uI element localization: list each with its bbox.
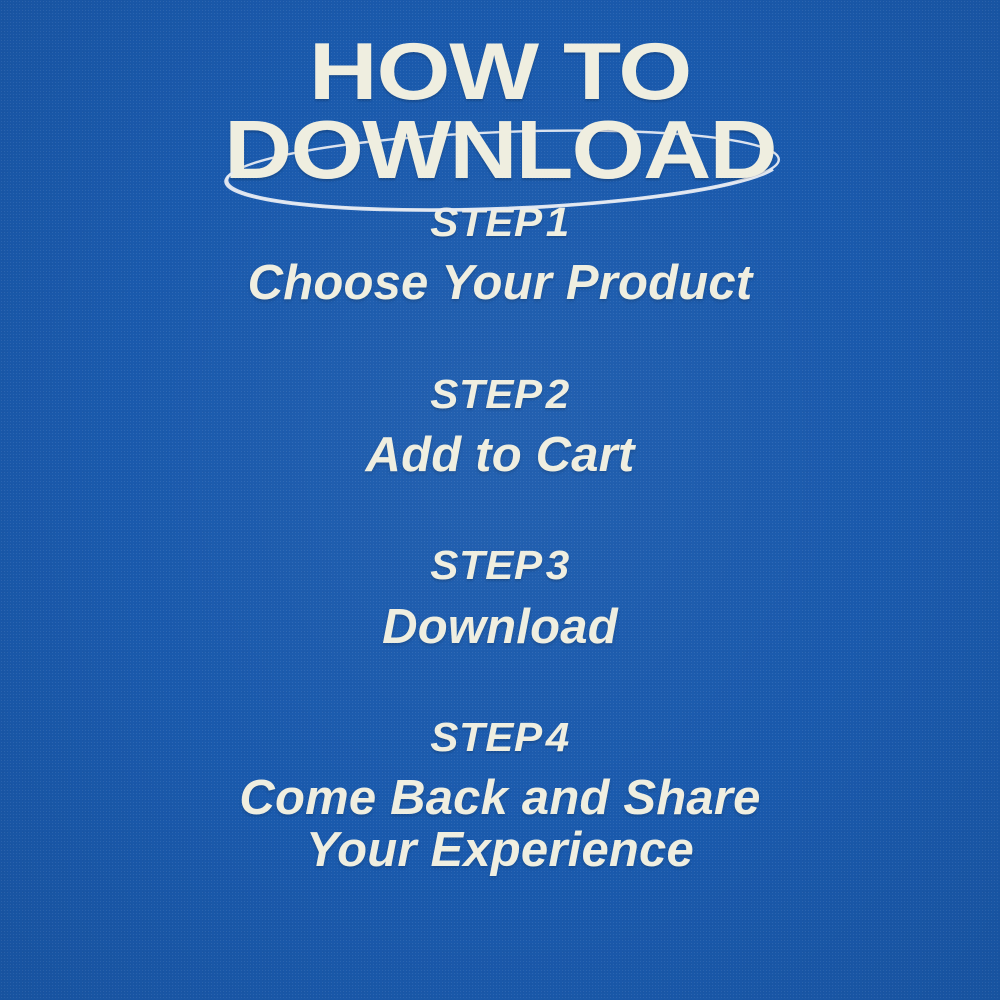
step-4-label: STEP4 — [0, 715, 1000, 759]
step-item-3: STEP3 Download — [0, 543, 1000, 653]
step-item-4: STEP4 Come Back and Share Your Experienc… — [0, 715, 1000, 876]
step-4-text-line-1: Come Back and Share — [0, 773, 1000, 824]
step-3-label-word: STEP — [430, 542, 542, 588]
step-2-label: STEP2 — [0, 372, 1000, 416]
step-3-label: STEP3 — [0, 543, 1000, 587]
step-1-text: Choose Your Product — [0, 258, 1000, 309]
steps-list: STEP1 Choose Your Product STEP2 Add to C… — [0, 200, 1000, 876]
step-2-text: Add to Cart — [0, 430, 1000, 481]
step-item-1: STEP1 Choose Your Product — [0, 200, 1000, 310]
step-3-text: Download — [0, 602, 1000, 653]
step-2-number: 2 — [546, 371, 570, 417]
step-2-label-word: STEP — [430, 371, 542, 417]
step-item-2: STEP2 Add to Cart — [0, 372, 1000, 482]
poster-title: HOW TO DOWNLOAD — [0, 34, 1000, 185]
step-4-text-line-2: Your Experience — [0, 825, 1000, 876]
title-line-2: DOWNLOAD — [0, 111, 1000, 189]
step-1-label: STEP1 — [0, 200, 1000, 244]
how-to-download-poster: HOW TO DOWNLOAD STEP1 Choose Your Produc… — [0, 0, 1000, 1000]
step-1-text-line-1: Choose Your Product — [0, 258, 1000, 309]
step-2-text-line-1: Add to Cart — [0, 430, 1000, 481]
step-1-number: 1 — [546, 199, 570, 245]
step-3-number: 3 — [546, 542, 570, 588]
step-3-text-line-1: Download — [0, 602, 1000, 653]
step-4-number: 4 — [546, 714, 570, 760]
step-4-label-word: STEP — [430, 714, 542, 760]
title-line-1: HOW TO — [0, 34, 1000, 110]
step-4-text: Come Back and Share Your Experience — [0, 773, 1000, 876]
step-1-label-word: STEP — [430, 199, 542, 245]
